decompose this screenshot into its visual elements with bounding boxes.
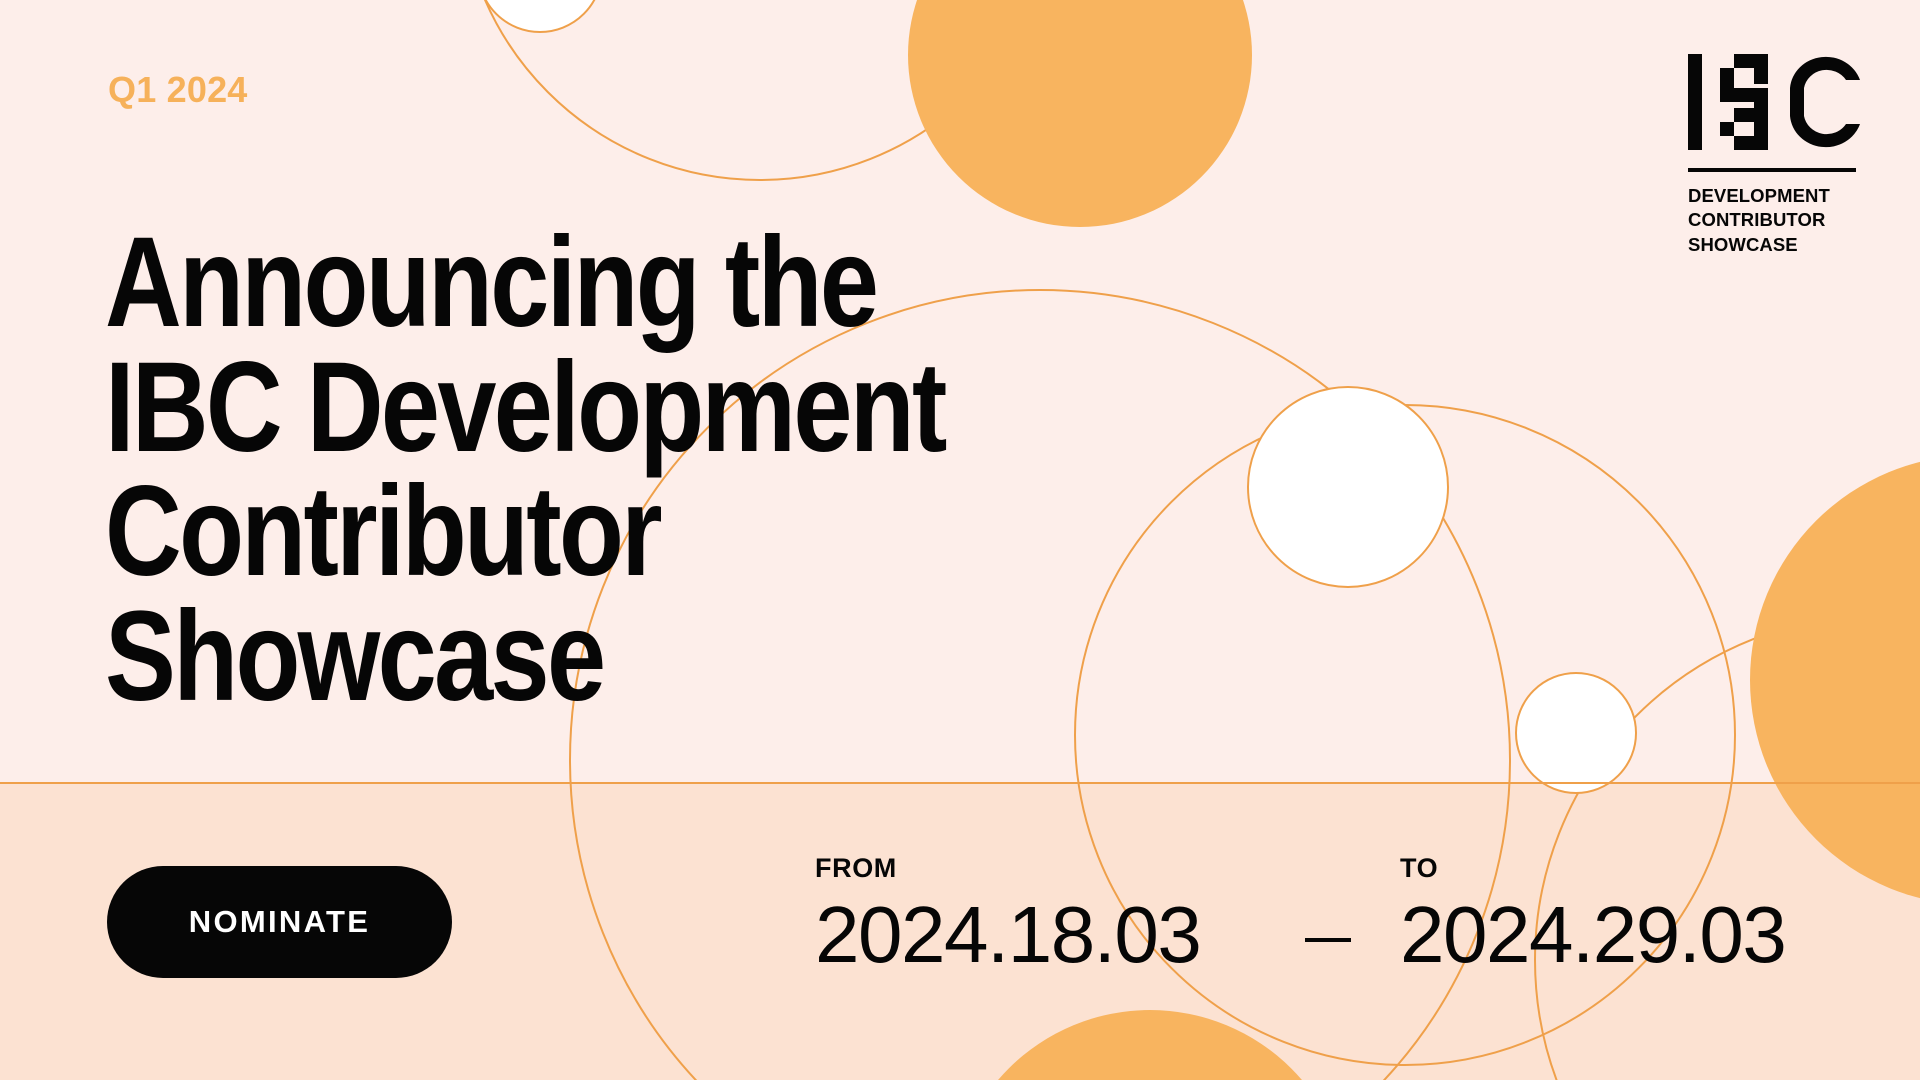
date-from-value: 2024.18.03 (815, 894, 1200, 976)
date-from-label: FROM (815, 855, 1200, 882)
date-range-from: FROM 2024.18.03 (815, 855, 1200, 976)
logo-caption-line-2: CONTRIBUTOR (1688, 208, 1862, 232)
date-to-label: TO (1400, 855, 1785, 882)
date-to-value: 2024.29.03 (1400, 894, 1785, 976)
logo-caption-line-1: DEVELOPMENT (1688, 184, 1862, 208)
headline-line-3: Contributor (105, 470, 1068, 595)
poster-content: Q1 2024 Announcing the IBC Development C… (0, 0, 1920, 1080)
date-range-to: TO 2024.29.03 (1400, 855, 1785, 976)
page-title: Announcing the IBC Development Contribut… (105, 221, 1068, 720)
headline-line-4: Showcase (105, 595, 1068, 720)
eyebrow-quarter-label: Q1 2024 (108, 72, 248, 108)
headline-line-1: Announcing the (105, 221, 1068, 346)
logo-caption: DEVELOPMENT CONTRIBUTOR SHOWCASE (1688, 184, 1862, 257)
headline-line-2: IBC Development (105, 346, 1068, 471)
logo-divider-rule (1688, 168, 1856, 172)
logo-caption-line-3: SHOWCASE (1688, 233, 1862, 257)
ibc-monogram-icon (1686, 52, 1862, 152)
nominate-button[interactable]: NOMINATE (107, 866, 452, 978)
announcement-poster: Q1 2024 Announcing the IBC Development C… (0, 0, 1920, 1080)
ibc-logo-lockup: DEVELOPMENT CONTRIBUTOR SHOWCASE (1686, 52, 1862, 257)
date-range-separator (1305, 938, 1351, 942)
